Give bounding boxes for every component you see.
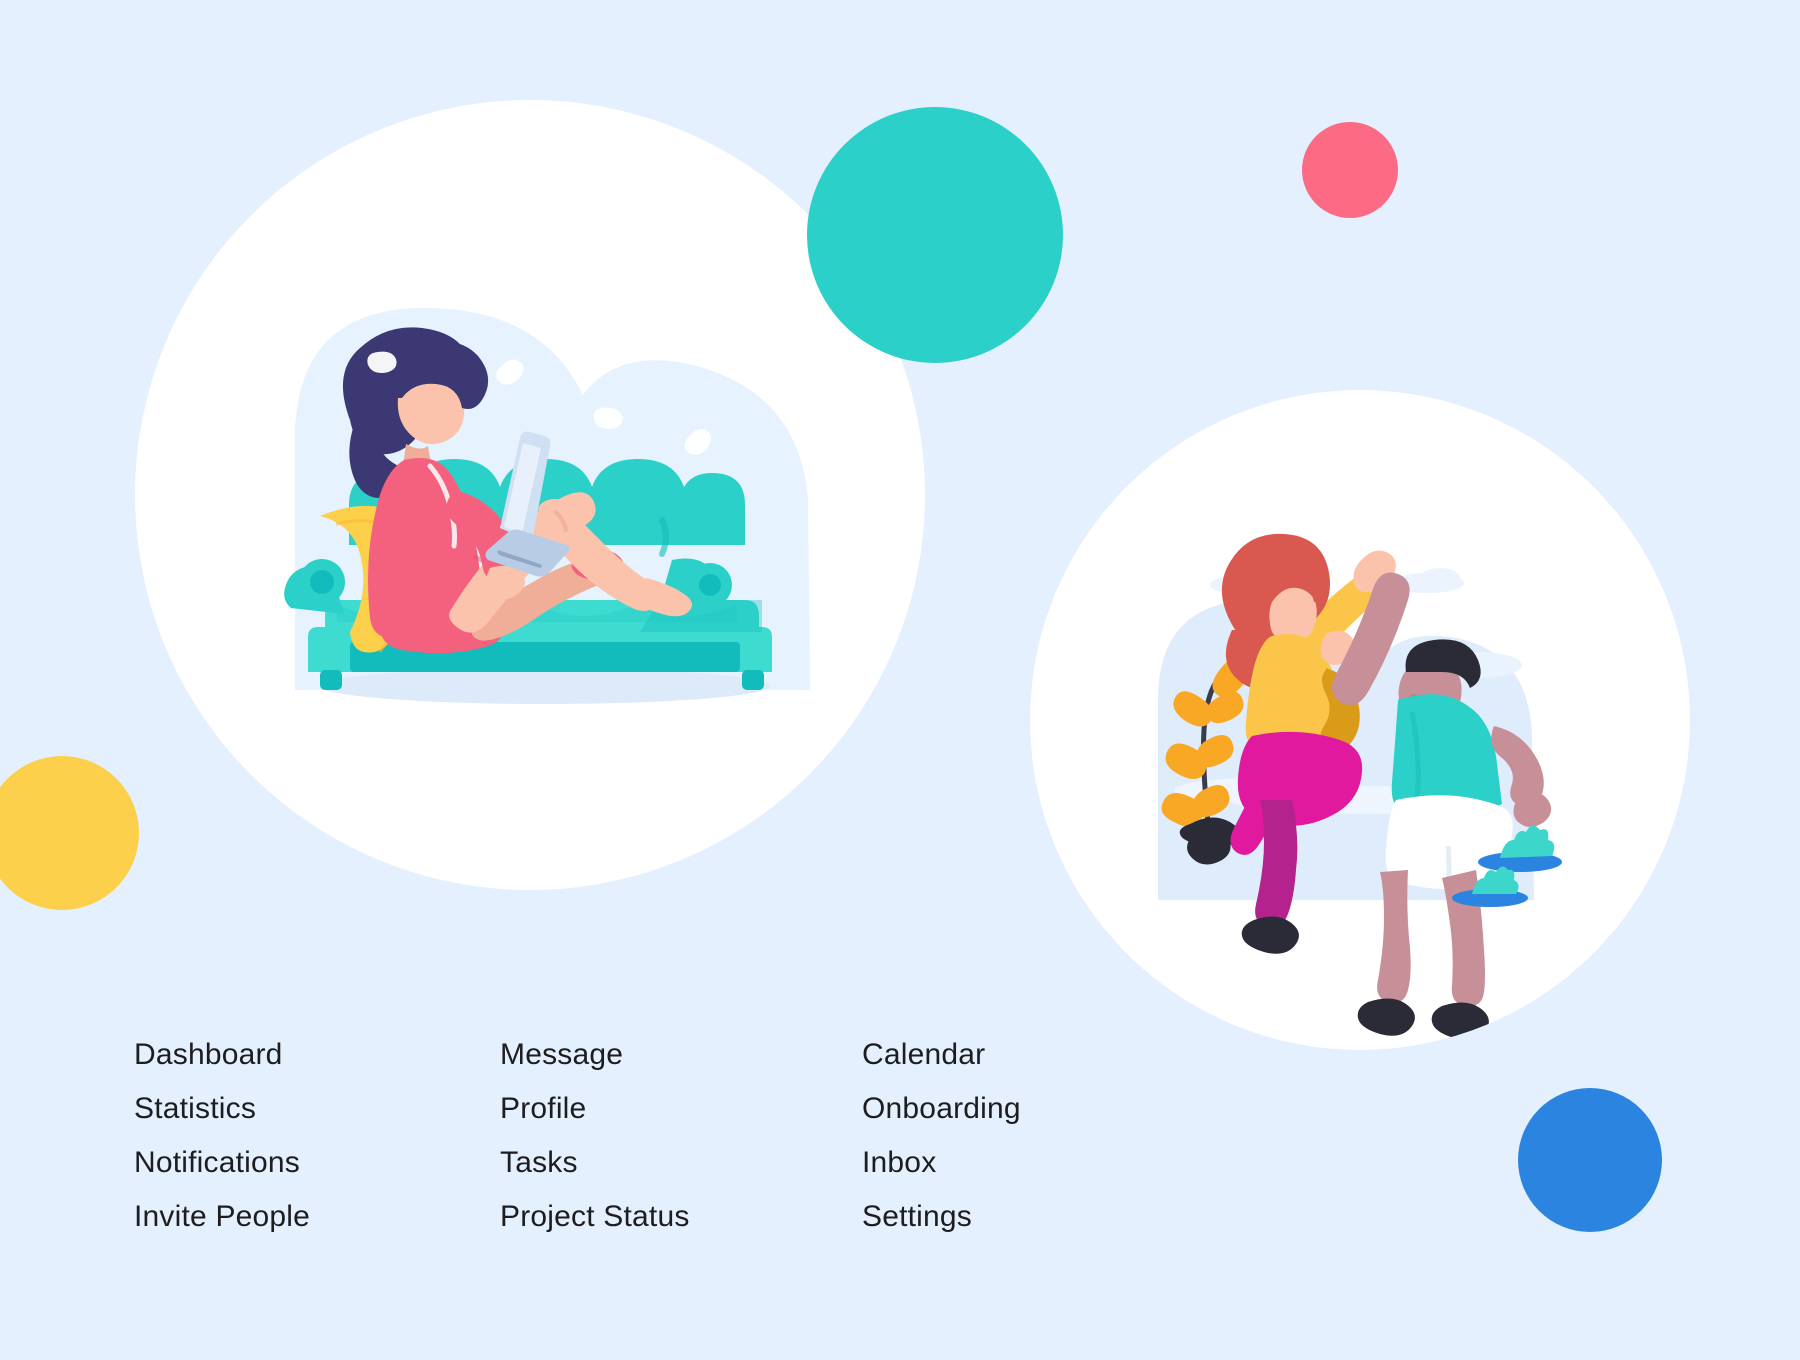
nav-item-statistics[interactable]: Statistics [134, 1082, 500, 1136]
nav-item-project-status[interactable]: Project Status [500, 1190, 862, 1244]
nav-column-2: Message Profile Tasks Project Status [500, 1028, 862, 1244]
nav-item-onboarding[interactable]: Onboarding [862, 1082, 1162, 1136]
nav-column-1: Dashboard Statistics Notifications Invit… [134, 1028, 500, 1244]
navigation-menu: Dashboard Statistics Notifications Invit… [134, 1028, 1162, 1244]
nav-item-invite-people[interactable]: Invite People [134, 1190, 500, 1244]
nav-column-3: Calendar Onboarding Inbox Settings [862, 1028, 1162, 1244]
nav-item-dashboard[interactable]: Dashboard [134, 1028, 500, 1082]
nav-item-profile[interactable]: Profile [500, 1082, 862, 1136]
man-left-shoe [1358, 998, 1415, 1035]
nav-item-settings[interactable]: Settings [862, 1190, 1162, 1244]
nav-item-tasks[interactable]: Tasks [500, 1136, 862, 1190]
nav-item-calendar[interactable]: Calendar [862, 1028, 1162, 1082]
nav-item-message[interactable]: Message [500, 1028, 862, 1082]
man-right-shoe [1432, 1002, 1489, 1039]
nav-item-notifications[interactable]: Notifications [134, 1136, 500, 1190]
woman-front-shoe [1242, 916, 1299, 953]
man-fist [1513, 792, 1551, 827]
page-canvas: Dashboard Statistics Notifications Invit… [0, 0, 1800, 1360]
nav-item-inbox[interactable]: Inbox [862, 1136, 1162, 1190]
